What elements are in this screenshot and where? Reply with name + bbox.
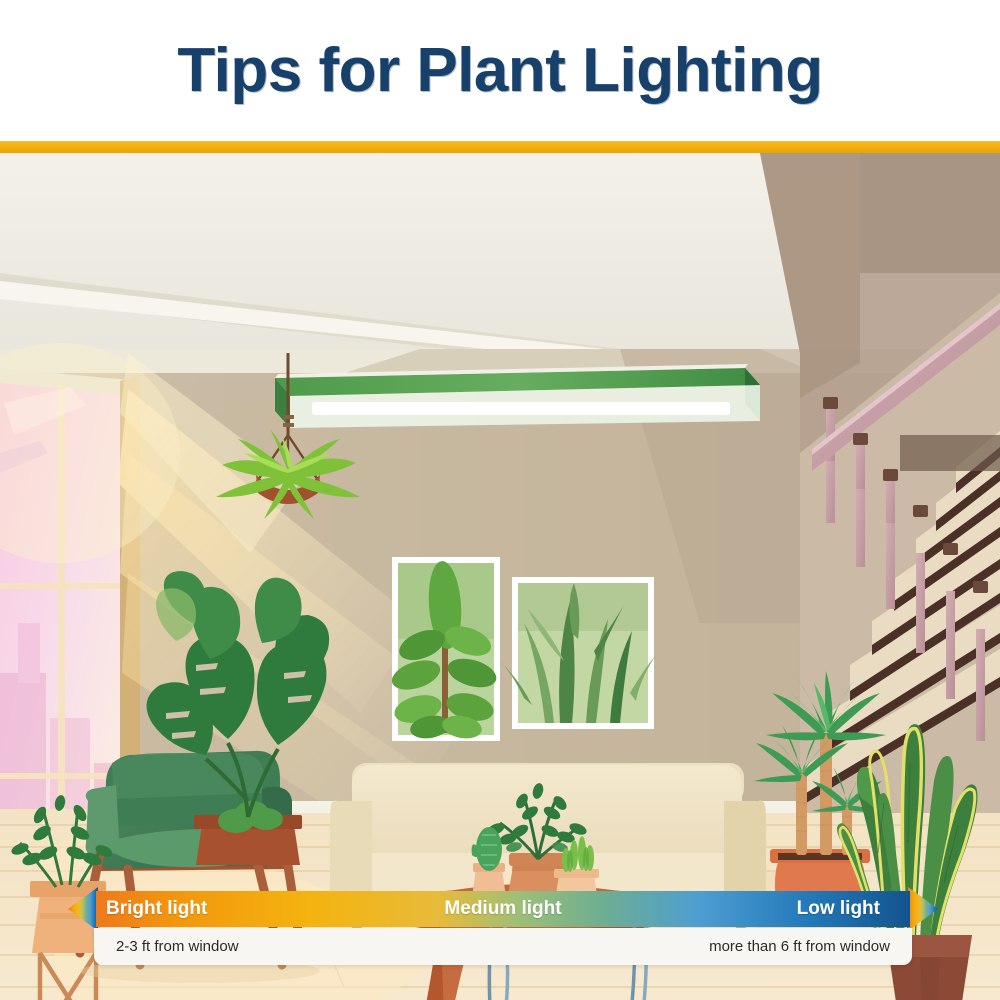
wall-art-right [500, 577, 656, 729]
bright-distance-caption: 2-3 ft from window [116, 938, 239, 955]
wall-art-left [388, 557, 500, 741]
light-gradient-arrow [68, 887, 938, 931]
light-level-legend: Bright light Medium light Low light 2-3 … [68, 887, 938, 963]
ceiling-grow-light-fixture [275, 364, 760, 428]
header-accent-bar [0, 141, 1000, 153]
room-illustration [0, 153, 1000, 1000]
header: Tips for Plant Lighting [0, 0, 1000, 141]
infographic-page: Tips for Plant Lighting [0, 0, 1000, 1000]
page-title: Tips for Plant Lighting [177, 40, 822, 102]
low-distance-caption: more than 6 ft from window [709, 938, 890, 955]
legend-caption-bar: 2-3 ft from window more than 6 ft from w… [94, 928, 912, 965]
